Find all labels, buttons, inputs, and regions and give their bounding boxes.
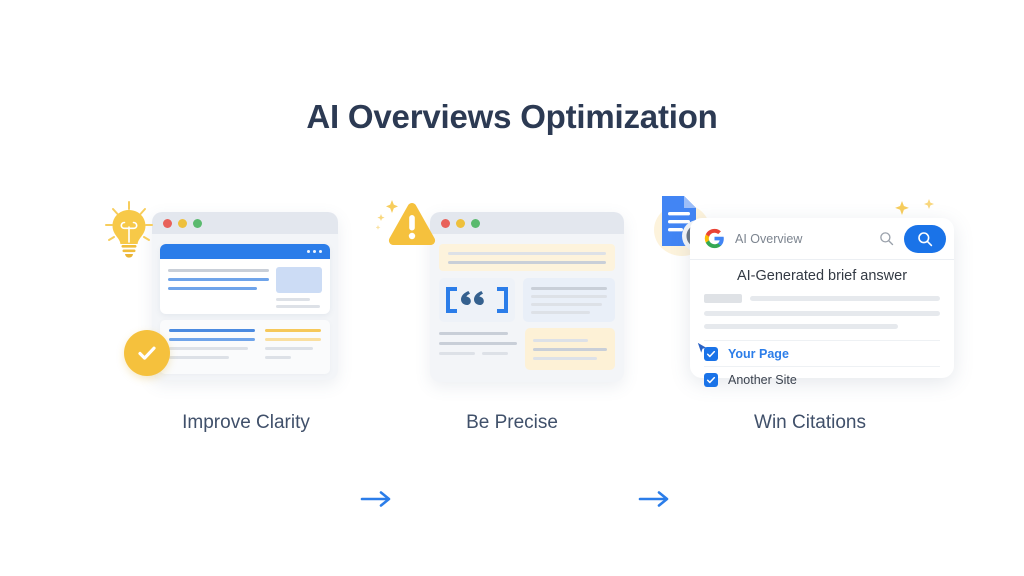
three-dots-icon (313, 250, 316, 253)
checkbox-checked-icon[interactable] (704, 373, 718, 387)
citation-row-another-site[interactable]: Another Site (704, 366, 940, 392)
traffic-light-green-icon (193, 219, 202, 228)
thumbnail-caption-group (276, 298, 322, 308)
skeleton-line (448, 252, 606, 255)
skeleton-line (168, 269, 269, 272)
cursor-pointer-icon (696, 342, 709, 355)
search-button[interactable] (904, 225, 946, 253)
ai-answer-heading: AI-Generated brief answer (690, 268, 954, 284)
step-label-be-precise: Be Precise (372, 412, 652, 434)
lower-right-highlight (525, 328, 615, 370)
skeleton-line (168, 278, 269, 281)
lower-content (439, 328, 615, 370)
browser-titlebar-2 (430, 212, 624, 234)
check-icon (135, 341, 159, 365)
three-dots-icon (307, 250, 310, 253)
check-icon (706, 375, 716, 385)
warning-triangle-icon (384, 200, 440, 250)
slide-canvas: AI Overviews Optimization (0, 0, 1024, 576)
skeleton-block (704, 294, 742, 303)
skeleton-line (482, 352, 508, 355)
text-skeleton-group (168, 267, 269, 308)
citations-list: Your Page Another Site (704, 340, 940, 392)
citation-label[interactable]: Another Site (728, 373, 797, 387)
step-label-improve-clarity: Improve Clarity (96, 412, 396, 434)
traffic-light-green-icon (471, 219, 480, 228)
arrow-right-icon (638, 486, 672, 512)
skeleton-line (439, 332, 508, 335)
skeleton-line (276, 298, 310, 301)
quote-block (439, 278, 515, 322)
check-circle-icon (124, 330, 170, 376)
traffic-light-yellow-icon (456, 219, 465, 228)
skeleton-line (533, 339, 588, 342)
steps-row: Improve Clarity (0, 190, 1024, 440)
citation-label[interactable]: Your Page (728, 347, 789, 361)
skeleton-line (533, 357, 597, 360)
skeleton-line (533, 348, 607, 351)
skeleton-line (265, 338, 321, 341)
skeleton-line (169, 329, 255, 332)
secondary-right-column (265, 329, 321, 374)
quote-side-lines (523, 278, 615, 322)
browser-titlebar-1 (152, 212, 338, 234)
skeleton-line (169, 356, 229, 359)
skeleton-line (265, 329, 321, 332)
browser-window-mock-2 (430, 212, 624, 382)
panel-header-bar (160, 244, 330, 259)
three-dots-icon (319, 250, 322, 253)
search-bar[interactable]: AI Overview (690, 218, 954, 260)
content-panel-secondary (160, 320, 330, 374)
skeleton-line (265, 356, 291, 359)
citation-row-your-page[interactable]: Your Page (704, 340, 940, 366)
skeleton-line (531, 311, 590, 314)
ai-overview-card: AI Overview AI-Generated brief answer (690, 218, 954, 378)
panel-body (160, 259, 330, 308)
skeleton-row (704, 294, 940, 303)
step-label-win-citations: Win Citations (660, 412, 960, 434)
skeleton-line-pair (439, 352, 517, 355)
skeleton-line (439, 342, 517, 345)
skeleton-line (448, 261, 606, 264)
lower-left-column (439, 328, 517, 370)
search-icon (917, 231, 933, 247)
page-title: AI Overviews Optimization (0, 98, 1024, 136)
skeleton-line (439, 352, 475, 355)
skeleton-line (169, 347, 248, 350)
google-logo-icon (704, 228, 725, 249)
skeleton-line (276, 305, 320, 308)
skeleton-line (704, 324, 898, 329)
skeleton-line (531, 287, 607, 290)
quote-section (439, 278, 615, 322)
traffic-light-red-icon (441, 219, 450, 228)
skeleton-line (750, 296, 940, 301)
quotation-marks-icon (445, 286, 509, 314)
answer-skeleton (704, 294, 940, 329)
search-icon[interactable] (879, 231, 894, 246)
highlight-banner (439, 244, 615, 271)
skeleton-line (531, 303, 602, 306)
thumbnail-group (276, 267, 322, 308)
skeleton-line (168, 287, 257, 290)
traffic-light-red-icon (163, 219, 172, 228)
traffic-light-yellow-icon (178, 219, 187, 228)
skeleton-line (169, 338, 255, 341)
secondary-left-column (169, 329, 255, 374)
arrow-right-icon (360, 486, 394, 512)
skeleton-line (265, 347, 313, 350)
content-panel-primary (160, 244, 330, 314)
lightbulb-icon (100, 198, 158, 260)
thumbnail-placeholder (276, 267, 322, 293)
skeleton-line (704, 311, 940, 316)
search-input[interactable]: AI Overview (735, 232, 869, 246)
browser-window-mock-1 (152, 212, 338, 380)
skeleton-line (531, 295, 607, 298)
